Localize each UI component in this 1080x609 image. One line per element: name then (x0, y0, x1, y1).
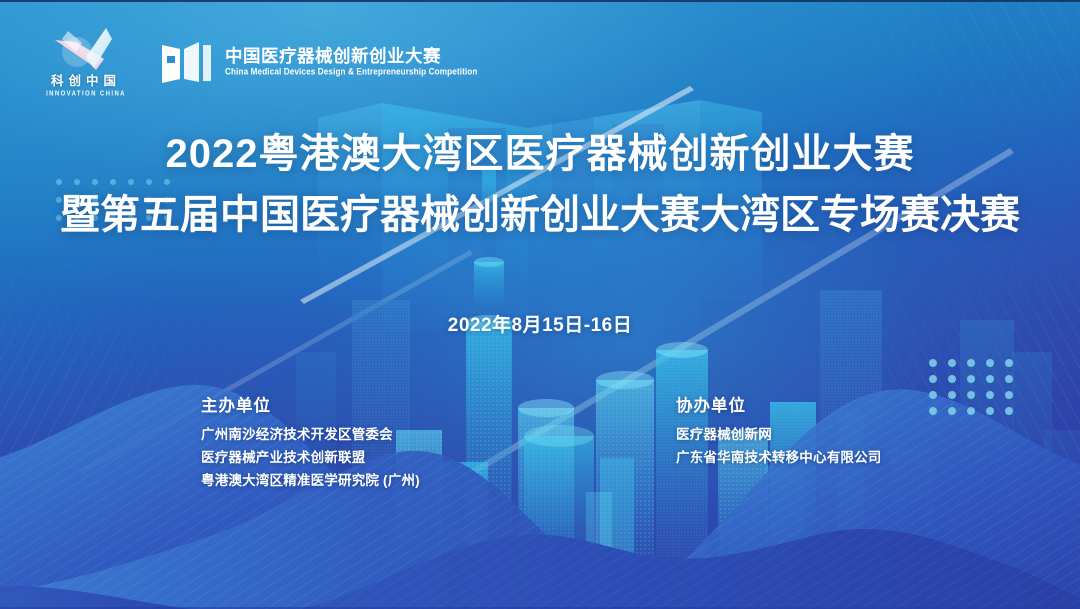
open-gate-logo-icon (160, 39, 212, 85)
dot-grid-right (929, 359, 1024, 423)
innovation-china-logo-en: INNOVATION CHINA (40, 91, 132, 99)
innovation-china-logo-cn: 科创中国 (40, 70, 132, 89)
main-title-line-1: 2022粤港澳大湾区医疗器械创新创业大赛 (0, 132, 1080, 177)
poster-canvas: 科创中国 INNOVATION CHINA 中国医疗器械创新创业大赛 China… (0, 0, 1080, 609)
title-block: 2022粤港澳大湾区医疗器械创新创业大赛 暨第五届中国医疗器械创新创业大赛大湾区… (0, 132, 1080, 238)
host-organizer-item: 粤港澳大湾区精准医学研究院 (广州) (201, 473, 420, 490)
coorganizer-section: 协办单位 医疗器械创新网 广东省华南技术转移中心有限公司 (676, 392, 882, 467)
top-trim-bar (0, 0, 1080, 2)
coorganizer-heading: 协办单位 (676, 392, 882, 416)
host-organizer-item: 医疗器械产业技术创新联盟 (201, 450, 420, 467)
coorganizer-list: 医疗器械创新网 广东省华南技术转移中心有限公司 (676, 427, 882, 467)
innovation-china-logo: 科创中国 INNOVATION CHINA (40, 26, 132, 98)
host-organizer-section: 主办单位 广州南沙经济技术开发区管委会 医疗器械产业技术创新联盟 粤港澳大湾区精… (201, 392, 420, 490)
host-organizer-heading: 主办单位 (201, 392, 420, 416)
cmdc-logo-en: China Medical Devices Design & Entrepren… (225, 67, 477, 76)
innovation-china-mark-icon (46, 26, 126, 74)
header-logo-bar: 科创中国 INNOVATION CHINA 中国医疗器械创新创业大赛 China… (40, 26, 477, 98)
cmdc-logo-cn: 中国医疗器械创新创业大赛 (225, 48, 477, 66)
coorganizer-item: 医疗器械创新网 (676, 427, 882, 444)
china-medical-devices-competition-logo: 中国医疗器械创新创业大赛 China Medical Devices Desig… (160, 39, 477, 85)
coorganizer-item: 广东省华南技术转移中心有限公司 (676, 450, 882, 467)
main-title-line-2: 暨第五届中国医疗器械创新创业大赛大湾区专场赛决赛 (0, 193, 1080, 238)
host-organizer-list: 广州南沙经济技术开发区管委会 医疗器械产业技术创新联盟 粤港澳大湾区精准医学研究… (201, 427, 420, 490)
cmdc-logo-text: 中国医疗器械创新创业大赛 China Medical Devices Desig… (225, 48, 477, 76)
event-date: 2022年8月15日-16日 (0, 310, 1080, 337)
host-organizer-item: 广州南沙经济技术开发区管委会 (201, 427, 420, 444)
